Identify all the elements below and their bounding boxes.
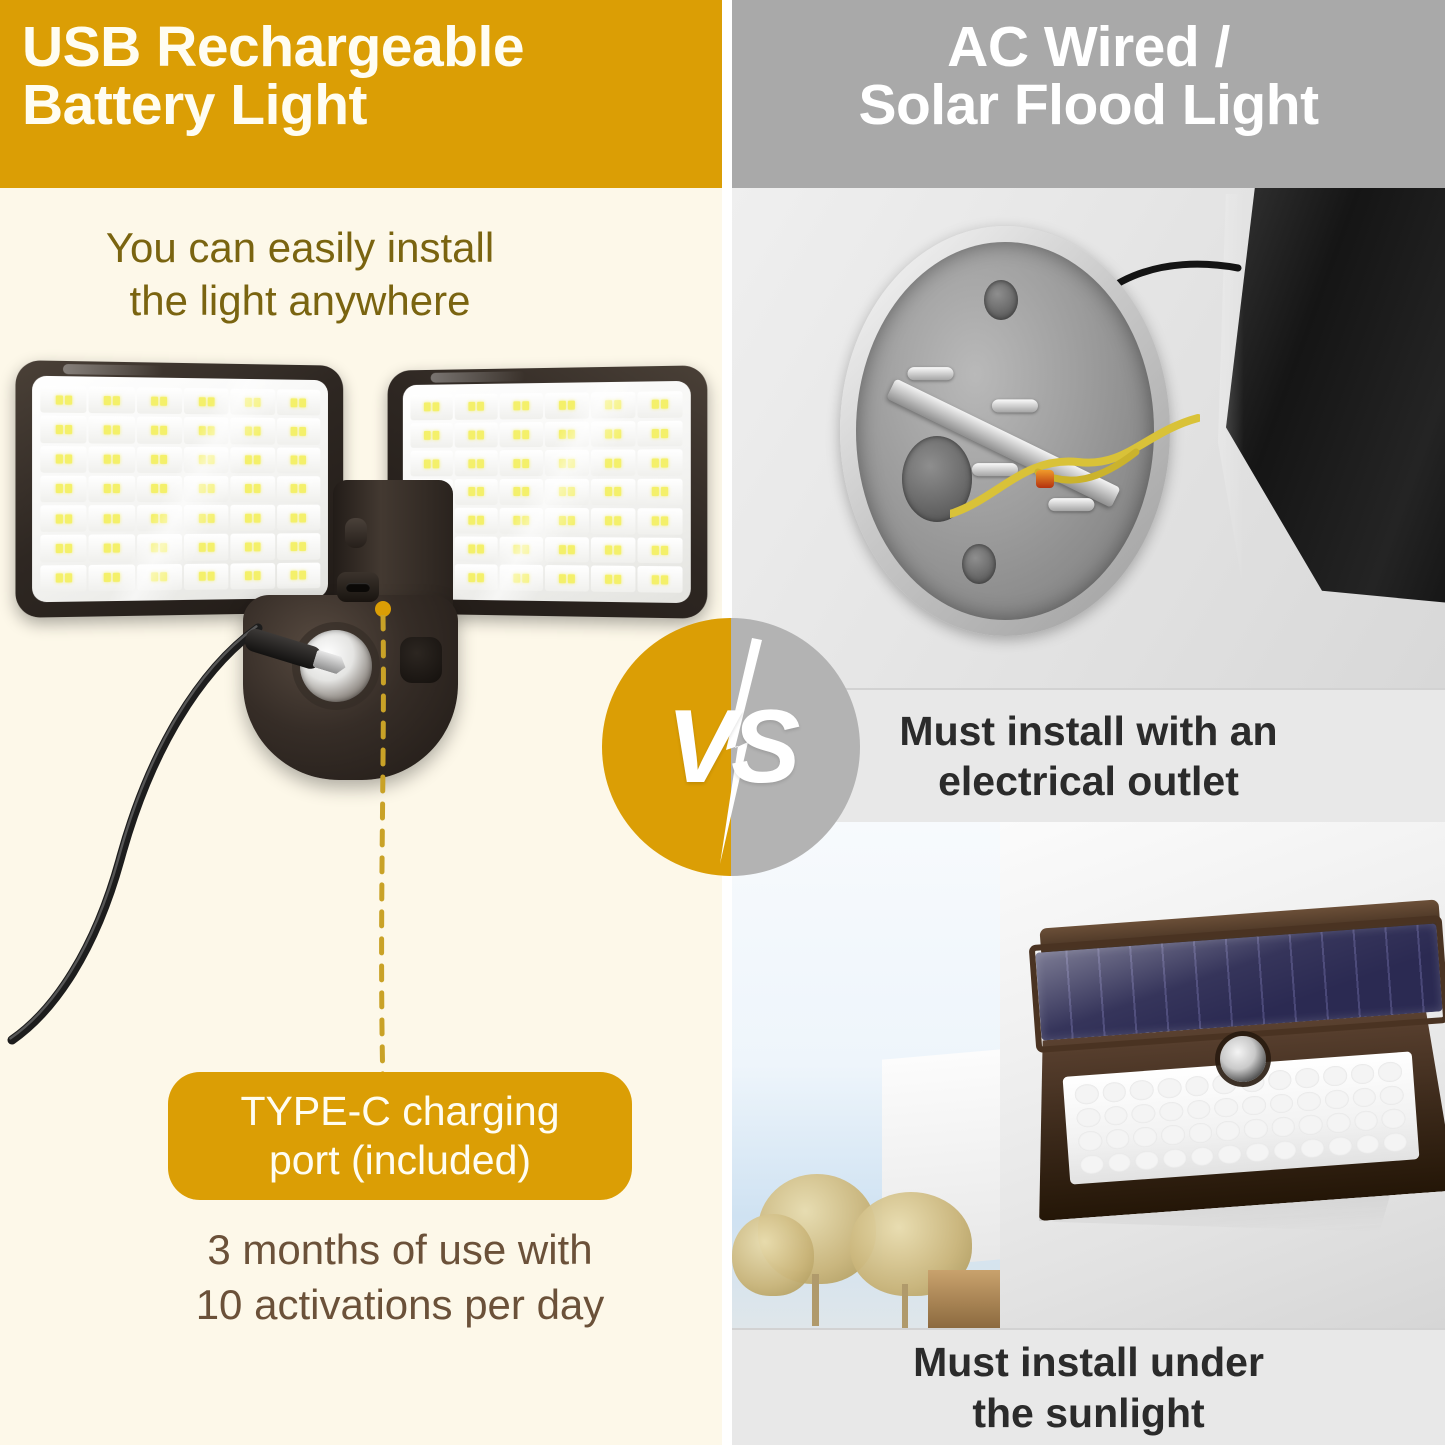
led-chip <box>605 574 612 583</box>
led-chip-cell <box>277 476 321 502</box>
led-chip <box>568 516 575 525</box>
solar-led-dot <box>1328 1135 1353 1156</box>
planter-box <box>928 1270 1000 1328</box>
led-chip <box>300 456 307 465</box>
right-header-title-line2: Solar Flood Light <box>732 76 1445 134</box>
led-chip <box>254 485 261 494</box>
led-chip-cell <box>455 564 498 590</box>
solar-led-dot <box>1103 1105 1128 1126</box>
led-chip <box>65 395 72 404</box>
led-chip <box>661 429 668 438</box>
right-header-title: AC Wired / Solar Flood Light <box>732 18 1445 134</box>
led-chip <box>55 455 62 464</box>
led-chip <box>300 542 307 551</box>
led-chip-cell <box>591 537 636 563</box>
led-chip <box>652 575 659 584</box>
led-chip <box>65 514 72 523</box>
led-chip-cell <box>591 450 636 476</box>
led-chip <box>652 400 659 409</box>
led-chip <box>652 546 659 555</box>
led-chip-cell <box>40 476 86 503</box>
solar-led-dot <box>1186 1099 1211 1120</box>
led-chip <box>652 517 659 526</box>
led-chip-cell <box>545 421 589 447</box>
led-chip-cell <box>277 389 321 415</box>
led-chip <box>254 514 261 523</box>
led-chip-cell <box>40 505 86 532</box>
caption-electrical-outlet-text: Must install with an electrical outlet <box>899 706 1277 806</box>
led-chip <box>468 459 475 468</box>
led-chip-cell <box>40 535 86 562</box>
led-chip <box>104 396 111 405</box>
solar-led-dot <box>1129 1079 1154 1100</box>
led-chip <box>652 429 659 438</box>
solar-led-dot <box>1157 1077 1182 1098</box>
led-chip-cell <box>89 505 135 532</box>
led-chip <box>160 426 167 435</box>
solar-led-dot <box>1078 1130 1103 1151</box>
led-chip-cell <box>184 447 229 473</box>
led-chip <box>513 459 520 468</box>
led-chip-cell <box>137 534 182 561</box>
led-chip-cell <box>89 564 135 591</box>
led-chip <box>477 516 484 525</box>
led-chip <box>291 398 298 407</box>
left-header-title-line2: Battery Light <box>22 76 702 134</box>
solar-led-dot <box>1131 1103 1156 1124</box>
solar-led-dot <box>1076 1107 1101 1128</box>
led-chip <box>113 396 120 405</box>
led-chip <box>477 544 484 553</box>
led-chip <box>605 401 612 410</box>
led-chip <box>55 544 62 553</box>
led-chip-cell <box>545 565 589 591</box>
solar-led-dot <box>1298 1114 1323 1135</box>
led-chip <box>151 426 158 435</box>
led-chip-cell <box>637 537 682 563</box>
led-chip-cell <box>637 479 682 505</box>
led-chip <box>113 573 120 582</box>
led-chip <box>513 516 520 525</box>
solar-led-dot <box>1295 1067 1320 1088</box>
led-chip <box>160 573 167 582</box>
led-chip-cell <box>231 389 275 416</box>
led-chip <box>568 401 575 410</box>
led-chip <box>614 458 621 467</box>
led-chip <box>245 514 252 523</box>
solar-led-dot <box>1267 1069 1292 1090</box>
led-chip <box>104 514 111 523</box>
led-chip <box>614 429 621 438</box>
led-chip-cell <box>184 388 229 415</box>
solar-led-dot <box>1216 1120 1241 1141</box>
yellow-ground-wire <box>950 396 1200 536</box>
led-chip <box>300 513 307 522</box>
led-chip <box>300 485 307 494</box>
led-chip <box>245 572 252 581</box>
solar-led-dot <box>1350 1063 1375 1084</box>
led-chip <box>605 429 612 438</box>
right-header-title-line1: AC Wired / <box>732 18 1445 76</box>
solar-led-dot <box>1243 1118 1268 1139</box>
led-chip-cell <box>231 505 275 531</box>
led-chip-cell <box>40 386 86 413</box>
led-chip <box>661 517 668 526</box>
led-chip <box>291 542 298 551</box>
led-chip <box>113 484 120 493</box>
led-chip <box>559 430 566 439</box>
solar-led-dot <box>1355 1133 1380 1154</box>
solar-led-dot <box>1190 1146 1215 1167</box>
led-chip-cell <box>410 394 452 420</box>
led-chip <box>254 427 261 436</box>
led-chip <box>477 488 484 497</box>
led-chip <box>151 543 158 552</box>
led-chip-cell <box>184 505 229 531</box>
led-chip-cell <box>89 446 135 473</box>
led-chip-cell <box>184 476 229 502</box>
junction-box <box>840 226 1170 636</box>
led-chip <box>160 396 167 405</box>
led-chip <box>605 458 612 467</box>
led-chip <box>468 488 475 497</box>
led-chip <box>199 455 206 464</box>
led-chip-cell <box>455 536 498 562</box>
led-chip <box>55 514 62 523</box>
left-header-title: USB Rechargeable Battery Light <box>22 18 702 134</box>
led-chip-cell <box>591 566 636 592</box>
battery-life-note: 3 months of use with 10 activations per … <box>140 1222 660 1333</box>
led-chip <box>522 545 529 554</box>
led-chip-cell <box>231 476 275 502</box>
led-chip <box>513 487 520 496</box>
led-chip <box>65 574 72 583</box>
led-chip-cell <box>455 394 498 420</box>
vs-badge: VS <box>602 618 860 876</box>
led-chip <box>254 571 261 580</box>
led-chip <box>151 396 158 405</box>
led-chip-cell <box>500 422 543 448</box>
led-chip <box>468 402 475 411</box>
led-chip <box>104 484 111 493</box>
led-chip <box>245 397 252 406</box>
led-chip <box>559 401 566 410</box>
solar-wall-light <box>1032 914 1445 1214</box>
led-chip <box>614 400 621 409</box>
led-chip <box>468 544 475 553</box>
led-chip <box>468 573 475 582</box>
led-chip <box>207 426 214 435</box>
led-chip <box>207 484 214 493</box>
led-chip <box>65 455 72 464</box>
led-chip <box>55 484 62 493</box>
led-chip <box>199 543 206 552</box>
led-chip <box>207 543 214 552</box>
usb-c-plug-tip <box>312 649 348 676</box>
solar-led-dot <box>1297 1091 1322 1112</box>
type-c-badge-line1: TYPE-C charging <box>240 1087 559 1136</box>
led-chip <box>207 455 214 464</box>
led-chip <box>291 427 298 436</box>
led-chip <box>513 430 520 439</box>
led-chip-cell <box>137 446 182 473</box>
led-chip-cell <box>500 450 543 476</box>
wire-connector-nut <box>1036 470 1054 488</box>
led-chip <box>245 543 252 552</box>
caption-outlet-line2: electrical outlet <box>899 756 1277 806</box>
bracket-screw <box>908 367 954 380</box>
led-chip <box>151 484 158 493</box>
solar-light-photo <box>732 822 1445 1328</box>
solar-led-dot <box>1079 1154 1104 1175</box>
led-chip-cell <box>500 393 543 419</box>
led-chip <box>477 402 484 411</box>
solar-led-dot <box>1245 1142 1270 1163</box>
caption-solar-line2: the sunlight <box>913 1388 1264 1438</box>
led-chip <box>245 426 252 435</box>
led-chip <box>151 573 158 582</box>
led-chip-cell <box>545 450 589 476</box>
led-chip <box>559 545 566 554</box>
led-chip <box>65 484 72 493</box>
led-chip <box>605 545 612 554</box>
solar-led-dot <box>1300 1138 1325 1159</box>
led-chip-cell <box>40 565 86 592</box>
solar-led-dot <box>1352 1087 1377 1108</box>
led-chip <box>468 516 475 525</box>
led-chip <box>652 458 659 467</box>
solar-led-dot <box>1322 1065 1347 1086</box>
solar-led-dot <box>1378 1061 1403 1082</box>
solar-led-dot <box>1354 1110 1379 1131</box>
led-chip <box>424 459 431 468</box>
led-chip <box>291 513 298 522</box>
led-chip <box>104 544 111 553</box>
led-chip <box>522 402 529 411</box>
led-chip <box>291 485 298 494</box>
led-chip <box>65 544 72 553</box>
led-chip <box>151 455 158 464</box>
left-subtitle-line2: the light anywhere <box>0 275 600 328</box>
battery-life-note-line2: 10 activations per day <box>140 1277 660 1332</box>
led-chip-cell <box>184 417 229 444</box>
led-chip <box>661 546 668 555</box>
led-chip-cell <box>89 387 135 414</box>
solar-led-dot <box>1133 1126 1158 1147</box>
led-chip-cell <box>184 563 229 590</box>
solar-led-dot <box>1383 1131 1408 1152</box>
led-chip <box>254 542 261 551</box>
solar-led-dot <box>1188 1122 1213 1143</box>
led-chip-cell <box>277 505 321 531</box>
light-side-button <box>400 637 442 683</box>
solar-led-dot <box>1217 1144 1242 1165</box>
led-chip-cell <box>231 563 275 590</box>
led-chip <box>199 397 206 406</box>
led-chip-cell <box>637 450 682 476</box>
led-chip <box>160 455 167 464</box>
right-header-banner: AC Wired / Solar Flood Light <box>732 0 1445 188</box>
led-chip-cell <box>500 508 543 534</box>
led-chip-cell <box>455 508 498 534</box>
led-chip <box>468 431 475 440</box>
led-chip-cell <box>455 422 498 448</box>
led-chip-cell <box>500 536 543 562</box>
type-c-badge-line2: port (included) <box>240 1136 559 1185</box>
tree-trunk <box>812 1274 819 1326</box>
led-chip-cell <box>545 479 589 505</box>
led-chip <box>568 487 575 496</box>
led-chip <box>300 571 307 580</box>
solar-led-dot <box>1134 1150 1159 1171</box>
solar-led-dot <box>1160 1124 1185 1145</box>
battery-life-note-line1: 3 months of use with <box>140 1222 660 1277</box>
led-chip-cell <box>137 387 182 414</box>
led-chip <box>605 487 612 496</box>
led-chip-cell <box>89 535 135 562</box>
led-chip-cell <box>591 421 636 447</box>
led-chip <box>160 484 167 493</box>
led-panel-left <box>15 360 343 618</box>
led-chip <box>522 487 529 496</box>
solar-led-dot <box>1269 1093 1294 1114</box>
led-chip <box>424 431 431 440</box>
panel-sheen <box>63 364 163 376</box>
tree-trunk <box>902 1284 908 1328</box>
led-chip-cell <box>277 562 321 588</box>
led-chip-cell <box>89 416 135 443</box>
led-chip <box>104 455 111 464</box>
solar-led-dot <box>1379 1085 1404 1106</box>
left-header-banner: USB Rechargeable Battery Light <box>0 0 722 188</box>
led-chip <box>113 455 120 464</box>
solar-led-dot <box>1271 1116 1296 1137</box>
led-chip-cell <box>277 534 321 560</box>
led-chip <box>513 402 520 411</box>
solar-led-dot <box>1381 1108 1406 1129</box>
type-c-charging-badge: TYPE-C charging port (included) <box>168 1072 632 1200</box>
led-chip-cell <box>231 447 275 473</box>
electrical-outlet-photo <box>732 188 1445 688</box>
led-chip <box>207 572 214 581</box>
led-chip <box>605 516 612 525</box>
solar-led-dot <box>1214 1097 1239 1118</box>
left-subtitle-line1: You can easily install <box>0 222 600 275</box>
junction-box-hole <box>984 280 1018 320</box>
led-chip-cell <box>500 479 543 505</box>
led-chip <box>55 395 62 404</box>
led-chip-cell <box>545 508 589 534</box>
led-chip-cell <box>40 446 86 473</box>
led-chip-cell <box>545 537 589 563</box>
panel-sheen <box>431 371 525 382</box>
led-chip-cell <box>137 476 182 502</box>
led-chip-cell <box>637 566 682 593</box>
led-chip <box>55 574 62 583</box>
led-chip <box>433 459 440 468</box>
tree <box>732 1214 814 1296</box>
led-chip-cell <box>637 508 682 534</box>
solar-led-dot <box>1185 1075 1210 1096</box>
led-chip <box>291 571 298 580</box>
led-chip <box>477 459 484 468</box>
led-chip <box>614 487 621 496</box>
vs-badge-label: VS <box>602 618 860 876</box>
led-chip <box>207 514 214 523</box>
light-mode-button <box>345 518 367 548</box>
led-chip <box>160 543 167 552</box>
led-chip-cell <box>231 418 275 444</box>
usb-c-port-slot <box>346 583 370 592</box>
led-chip <box>199 484 206 493</box>
solar-led-dot <box>1272 1140 1297 1161</box>
led-chip-cell <box>40 416 86 443</box>
led-chip <box>513 573 520 582</box>
led-chip <box>568 545 575 554</box>
led-chip <box>199 426 206 435</box>
led-face-left <box>32 376 328 603</box>
led-chip <box>254 456 261 465</box>
led-chip-cell <box>637 391 682 418</box>
solar-led-dot <box>1159 1101 1184 1122</box>
led-chip <box>559 487 566 496</box>
led-chip <box>104 573 111 582</box>
caption-sunlight-text: Must install under the sunlight <box>913 1337 1264 1437</box>
led-chip <box>661 400 668 409</box>
led-chip-cell <box>89 476 135 503</box>
led-chip <box>254 398 261 407</box>
led-chip <box>151 514 158 523</box>
solar-led-dot <box>1162 1148 1187 1169</box>
led-chip <box>291 456 298 465</box>
led-chip <box>477 431 484 440</box>
led-chip <box>513 545 520 554</box>
solar-led-dot <box>1074 1083 1099 1104</box>
type-c-charging-badge-text: TYPE-C charging port (included) <box>218 1087 581 1185</box>
led-chip <box>160 514 167 523</box>
led-chip-cell <box>231 534 275 560</box>
solar-led-dot <box>1241 1095 1266 1116</box>
led-chip <box>433 403 440 412</box>
led-chip <box>245 485 252 494</box>
led-chip <box>207 397 214 406</box>
led-chip <box>433 431 440 440</box>
led-chip <box>245 455 252 464</box>
caption-outlet-line1: Must install with an <box>899 706 1277 756</box>
led-chip-cell <box>277 418 321 444</box>
led-chip <box>113 544 120 553</box>
led-chip <box>104 425 111 434</box>
solar-led-dot <box>1324 1089 1349 1110</box>
led-chip <box>199 572 206 581</box>
led-chip <box>477 573 484 582</box>
led-chip-cell <box>591 508 636 534</box>
led-chip-cell <box>591 479 636 505</box>
led-chip <box>113 514 120 523</box>
left-header-title-line1: USB Rechargeable <box>22 18 702 76</box>
led-chip-cell <box>455 479 498 505</box>
led-chip-cell <box>410 451 452 476</box>
caption-solar-line1: Must install under <box>913 1337 1264 1387</box>
led-chip <box>522 516 529 525</box>
led-chip <box>568 574 575 583</box>
solar-led-dot <box>1102 1081 1127 1102</box>
led-chip-cell <box>410 423 452 449</box>
led-chip <box>424 403 431 412</box>
led-chip <box>522 573 529 582</box>
led-chip <box>199 514 206 523</box>
led-chip <box>559 574 566 583</box>
